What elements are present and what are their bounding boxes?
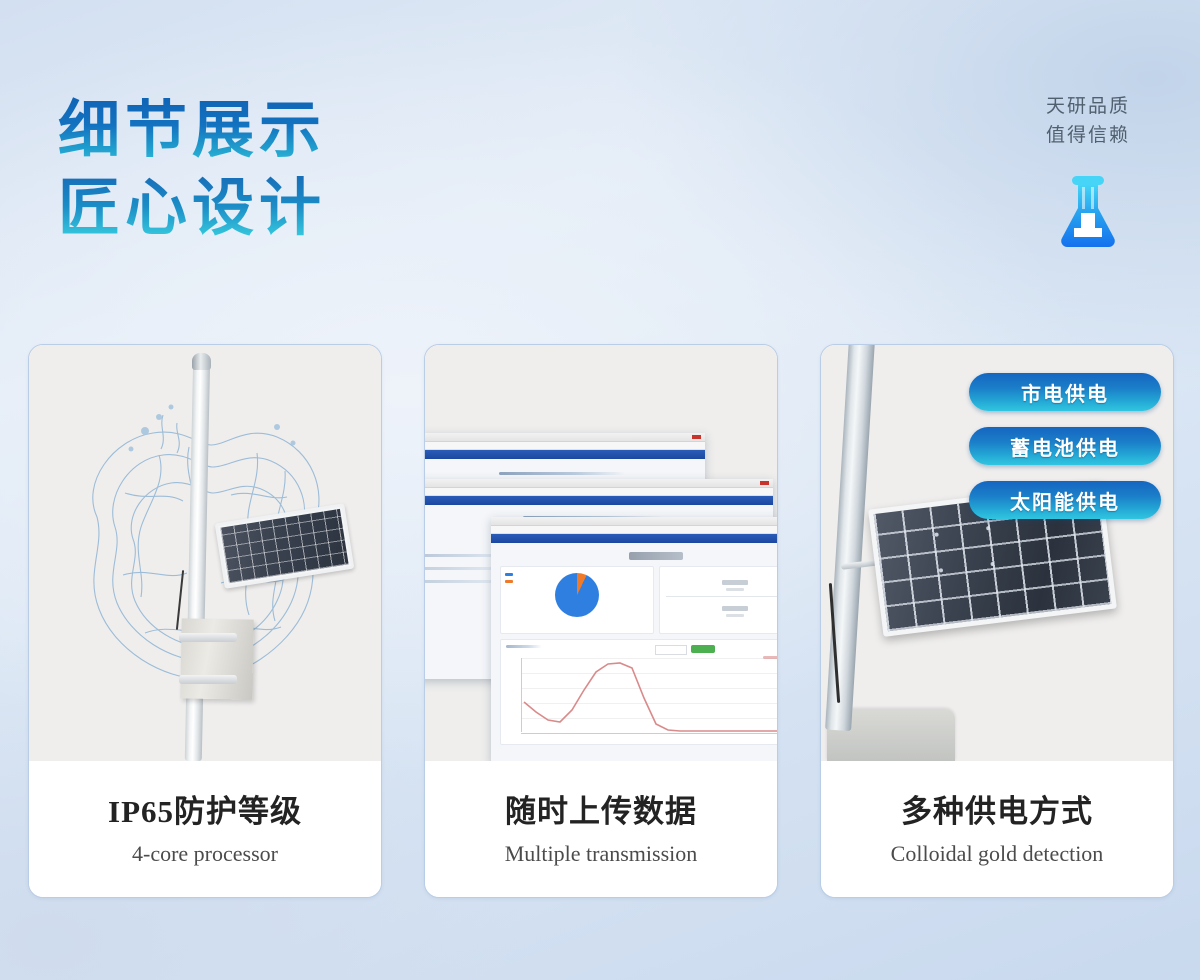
pole-cap bbox=[192, 353, 211, 370]
pie-legend bbox=[505, 573, 513, 587]
card-title: 随时上传数据 bbox=[505, 792, 697, 832]
page-title: 细节展示 匠心设计 bbox=[58, 92, 326, 248]
pole-clamp-upper bbox=[179, 633, 237, 642]
brand-line-1: 天研品质 bbox=[1018, 92, 1158, 121]
page-title-line2: 匠心设计 bbox=[58, 170, 326, 248]
card-photo-ip65 bbox=[29, 345, 381, 761]
feature-card-power[interactable]: 市电供电 蓄电池供电 太阳能供电 多种供电方式 Colloidal gold d… bbox=[820, 344, 1174, 898]
feature-card-ip65[interactable]: IP65防护等级 4-core processor bbox=[28, 344, 382, 898]
pie-chart bbox=[555, 573, 599, 617]
badge-solar-power[interactable]: 太阳能供电 bbox=[969, 481, 1161, 519]
stats-panel bbox=[659, 566, 778, 634]
card-photo-upload bbox=[425, 345, 777, 761]
enclosure-box bbox=[180, 618, 253, 699]
card-photo-power: 市电供电 蓄电池供电 太阳能供电 bbox=[821, 345, 1173, 761]
card-subtitle: 4-core processor bbox=[132, 841, 278, 867]
card-caption-power: 多种供电方式 Colloidal gold detection bbox=[821, 761, 1173, 897]
card-title: IP65防护等级 bbox=[108, 792, 302, 832]
feature-card-upload[interactable]: 随时上传数据 Multiple transmission bbox=[424, 344, 778, 898]
pole-shaft bbox=[825, 345, 875, 731]
line-chart-series bbox=[522, 658, 777, 732]
card-subtitle: Colloidal gold detection bbox=[891, 841, 1104, 867]
card-caption-upload: 随时上传数据 Multiple transmission bbox=[425, 761, 777, 897]
brand-block: 天研品质 值得信赖 bbox=[1018, 92, 1158, 250]
card-subtitle: Multiple transmission bbox=[505, 841, 698, 867]
card-caption-ip65: IP65防护等级 4-core processor bbox=[29, 761, 381, 897]
brand-line-2: 值得信赖 bbox=[1018, 121, 1158, 150]
power-badge-list: 市电供电 蓄电池供电 太阳能供电 bbox=[969, 373, 1161, 535]
page-title-line1: 细节展示 bbox=[58, 92, 326, 170]
line-chart-panel bbox=[500, 639, 777, 745]
pie-chart-panel bbox=[500, 566, 654, 634]
dashboard bbox=[491, 543, 777, 761]
dashboard-title bbox=[629, 552, 683, 560]
page-root: 细节展示 匠心设计 天研品质 值得信赖 bbox=[0, 0, 1200, 980]
date-input[interactable] bbox=[655, 645, 687, 655]
pole-clamp-lower bbox=[179, 675, 237, 684]
query-button[interactable] bbox=[691, 645, 715, 653]
card-title: 多种供电方式 bbox=[901, 792, 1093, 832]
line-chart-legend bbox=[763, 656, 777, 659]
chart-x-axis bbox=[521, 733, 777, 734]
browser-window-front bbox=[491, 517, 777, 761]
badge-battery-power[interactable]: 蓄电池供电 bbox=[969, 427, 1161, 465]
flask-icon bbox=[1051, 172, 1125, 250]
feature-card-list: IP65防护等级 4-core processor bbox=[0, 344, 1200, 896]
badge-mains-power[interactable]: 市电供电 bbox=[969, 373, 1161, 411]
